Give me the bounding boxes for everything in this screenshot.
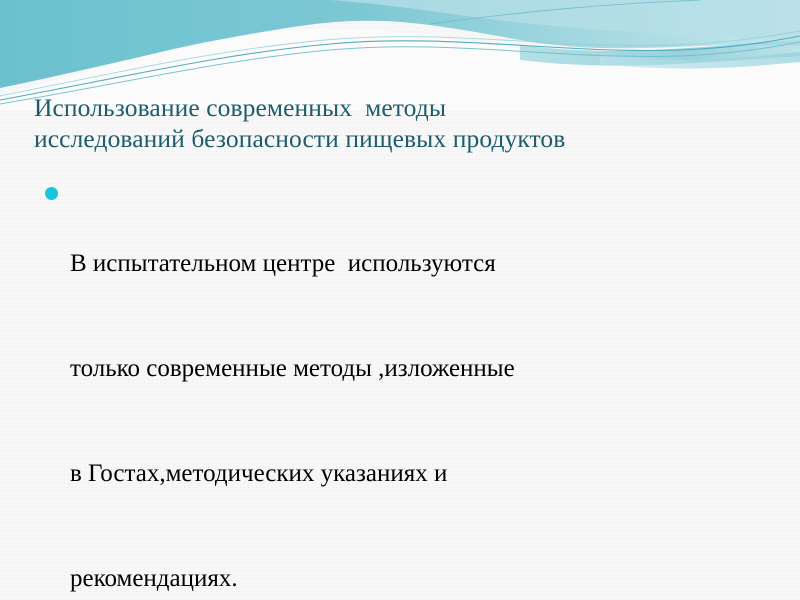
list-item: В испытательном центре используются толь…	[40, 176, 780, 600]
bullet-text-1: В испытательном центре используются толь…	[70, 176, 780, 600]
wave-pale-band-upper-right	[330, 0, 800, 40]
page-title: Использование современных методы исследо…	[34, 92, 778, 154]
wave-teal-field	[0, 0, 800, 88]
title-line-1: Использование современных методы	[34, 92, 778, 123]
bullet-1-line-4: рекомендациях.	[70, 561, 780, 596]
wave-stroke-line-1	[0, 36, 800, 100]
slide-canvas: Использование современных методы исследо…	[0, 0, 800, 600]
wave-teal-ribbon-right-slim	[600, 52, 800, 68]
title-line-2: исследований безопасности пищевых продук…	[34, 123, 778, 154]
wave-stroke-line-3	[0, 31, 800, 96]
wave-teal-ribbon-right	[520, 40, 800, 66]
content-body: В испытательном центре используются толь…	[40, 176, 780, 600]
bullet-1-line-3: в Гостах,методических указаниях и	[70, 456, 780, 491]
wave-stroke-line-4	[430, 0, 700, 24]
bullet-1-line-2: только современные методы ,изложенные	[70, 351, 780, 386]
disc-bullet-icon	[45, 187, 58, 200]
bullet-1-line-1: В испытательном центре используются	[70, 246, 780, 281]
